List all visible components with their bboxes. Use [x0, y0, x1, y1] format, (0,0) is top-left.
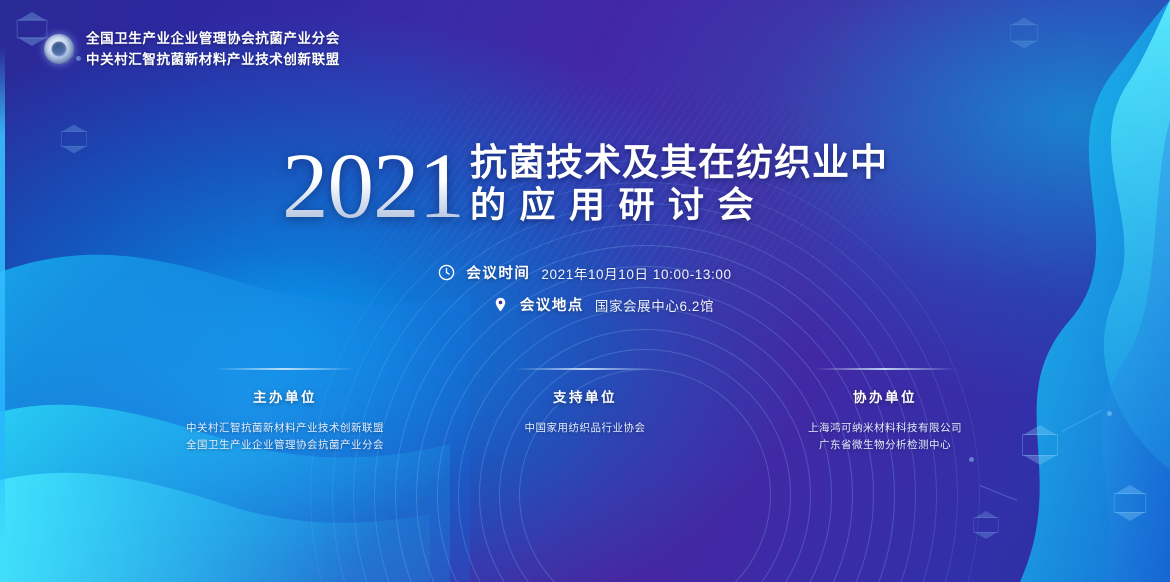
divider: [215, 368, 355, 370]
molecule-node: [969, 457, 974, 462]
organizer-block-coorganizer: 协办单位 上海鸿可纳米材料科技有限公司 广东省微生物分析检测中心: [735, 368, 1035, 455]
organizers-section: 主办单位 中关村汇智抗菌新材料产业技术创新联盟 全国卫生产业企业管理协会抗菌产业…: [0, 368, 1170, 455]
header-line-1: 全国卫生产业企业管理协会抗菌产业分会: [86, 30, 340, 48]
map-pin-icon: [492, 296, 509, 313]
association-emblem-icon: [44, 34, 74, 64]
organizer-title: 协办单位: [853, 386, 917, 406]
organizer-name: 中关村汇智抗菌新材料产业技术创新联盟: [186, 420, 384, 437]
molecule-bond: [980, 485, 1017, 501]
hexagon-icon: [17, 20, 48, 39]
header-organisation-names: 全国卫生产业企业管理协会抗菌产业分会 中关村汇智抗菌新材料产业技术创新联盟: [86, 30, 340, 69]
hexagon-icon: [1114, 493, 1146, 513]
poster-title: 2021 抗菌技术及其在纺织业中 的应用研讨会: [0, 136, 1170, 226]
clock-icon: [438, 264, 455, 281]
organizer-name: 全国卫生产业企业管理协会抗菌产业分会: [186, 437, 384, 454]
divider: [815, 368, 955, 370]
conference-poster: 全国卫生产业企业管理协会抗菌产业分会 中关村汇智抗菌新材料产业技术创新联盟 20…: [0, 0, 1170, 582]
meeting-time-label: 会议时间: [466, 262, 530, 283]
meeting-time-value: 2021年10月10日 10:00-13:00: [541, 263, 731, 283]
organizer-name: 广东省微生物分析检测中心: [819, 437, 951, 454]
meeting-location-value: 国家会展中心6.2馆: [595, 295, 714, 315]
organizer-block-supporter: 支持单位 中国家用纺织品行业协会: [435, 368, 735, 455]
meeting-location-row: 会议地点 国家会展中心6.2馆: [492, 294, 714, 315]
meeting-location-label: 会议地点: [520, 294, 584, 315]
title-year: 2021: [282, 144, 464, 230]
hexagon-icon: [1010, 24, 1038, 41]
header-line-2: 中关村汇智抗菌新材料产业技术创新联盟: [86, 51, 340, 69]
title-line-1: 抗菌技术及其在纺织业中: [470, 142, 888, 183]
organizer-title: 支持单位: [553, 386, 617, 406]
organizer-name: 中国家用纺织品行业协会: [525, 420, 646, 437]
divider: [515, 368, 655, 370]
header-organisation-block: 全国卫生产业企业管理协会抗菌产业分会 中关村汇智抗菌新材料产业技术创新联盟: [44, 30, 340, 69]
organizer-title: 主办单位: [253, 386, 317, 406]
organizer-block-host: 主办单位 中关村汇智抗菌新材料产业技术创新联盟 全国卫生产业企业管理协会抗菌产业…: [135, 368, 435, 455]
title-line-2: 的应用研讨会: [470, 185, 888, 225]
organizer-name: 上海鸿可纳米材料科技有限公司: [808, 420, 962, 437]
hexagon-icon: [973, 517, 998, 532]
meeting-time-row: 会议时间 2021年10月10日 10:00-13:00: [438, 262, 731, 283]
meeting-info: 会议时间 2021年10月10日 10:00-13:00 会议地点 国家会展中心…: [0, 262, 1170, 315]
